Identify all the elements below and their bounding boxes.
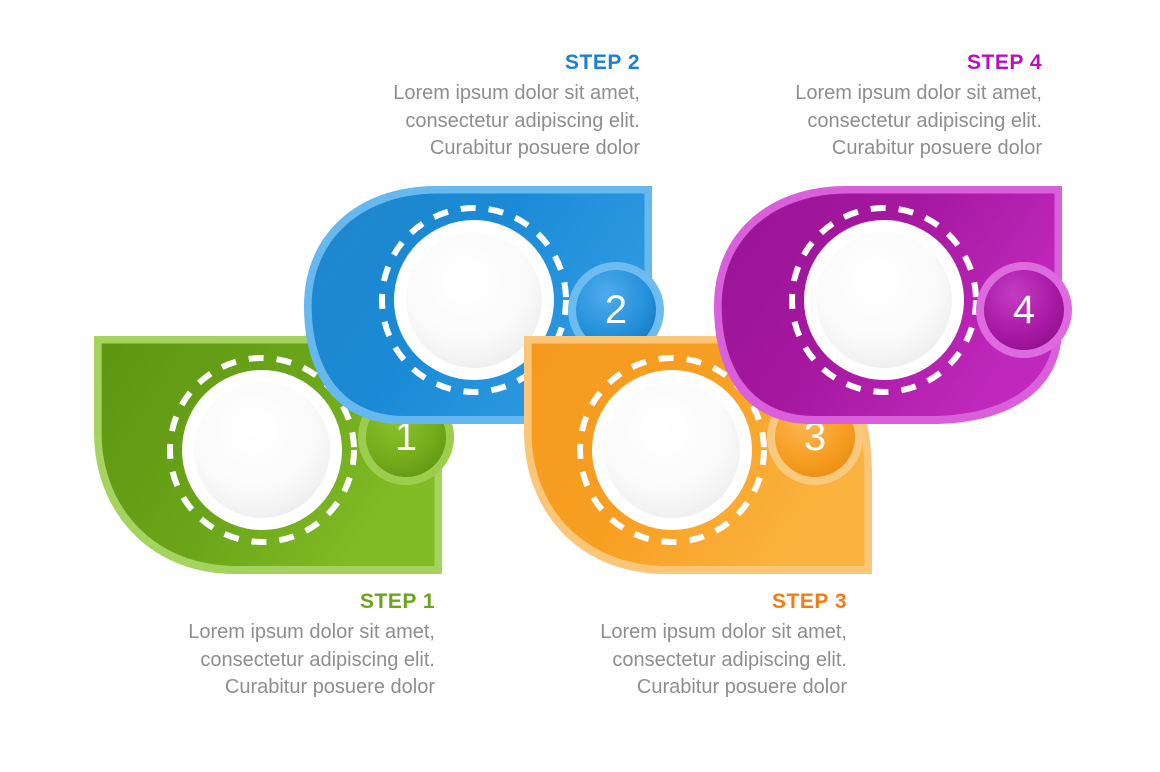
step-2-textblock: STEP 2 Lorem ipsum dolor sit amet, conse… <box>335 52 640 163</box>
step-2-body: Lorem ipsum dolor sit amet, consectetur … <box>335 80 640 163</box>
step-4-label: STEP 4 <box>742 52 1042 73</box>
step-1-label: STEP 1 <box>130 591 435 612</box>
step-2-circle[interactable] <box>406 232 542 368</box>
step-3-body: Lorem ipsum dolor sit amet, consectetur … <box>552 619 847 702</box>
step-4-body: Lorem ipsum dolor sit amet, consectetur … <box>742 80 1042 163</box>
step-4-shape[interactable]: 4 <box>714 186 1072 424</box>
step-1-circle[interactable] <box>194 382 330 518</box>
step-3-textblock: STEP 3 Lorem ipsum dolor sit amet, conse… <box>552 591 847 702</box>
step-1-textblock: STEP 1 Lorem ipsum dolor sit amet, conse… <box>130 591 435 702</box>
step-4-circle[interactable] <box>816 232 952 368</box>
step-4-badge[interactable]: 4 <box>976 262 1072 358</box>
step-1-body: Lorem ipsum dolor sit amet, consectetur … <box>130 619 435 702</box>
step-2-label: STEP 2 <box>335 52 640 73</box>
step-3-circle[interactable] <box>604 382 740 518</box>
step-4-textblock: STEP 4 Lorem ipsum dolor sit amet, conse… <box>742 52 1042 163</box>
step-4-badge-number: 4 <box>1013 288 1035 332</box>
step-3-label: STEP 3 <box>552 591 847 612</box>
infographic-canvas: 1 2 <box>0 0 1160 772</box>
step-2-badge-number: 2 <box>605 288 627 332</box>
